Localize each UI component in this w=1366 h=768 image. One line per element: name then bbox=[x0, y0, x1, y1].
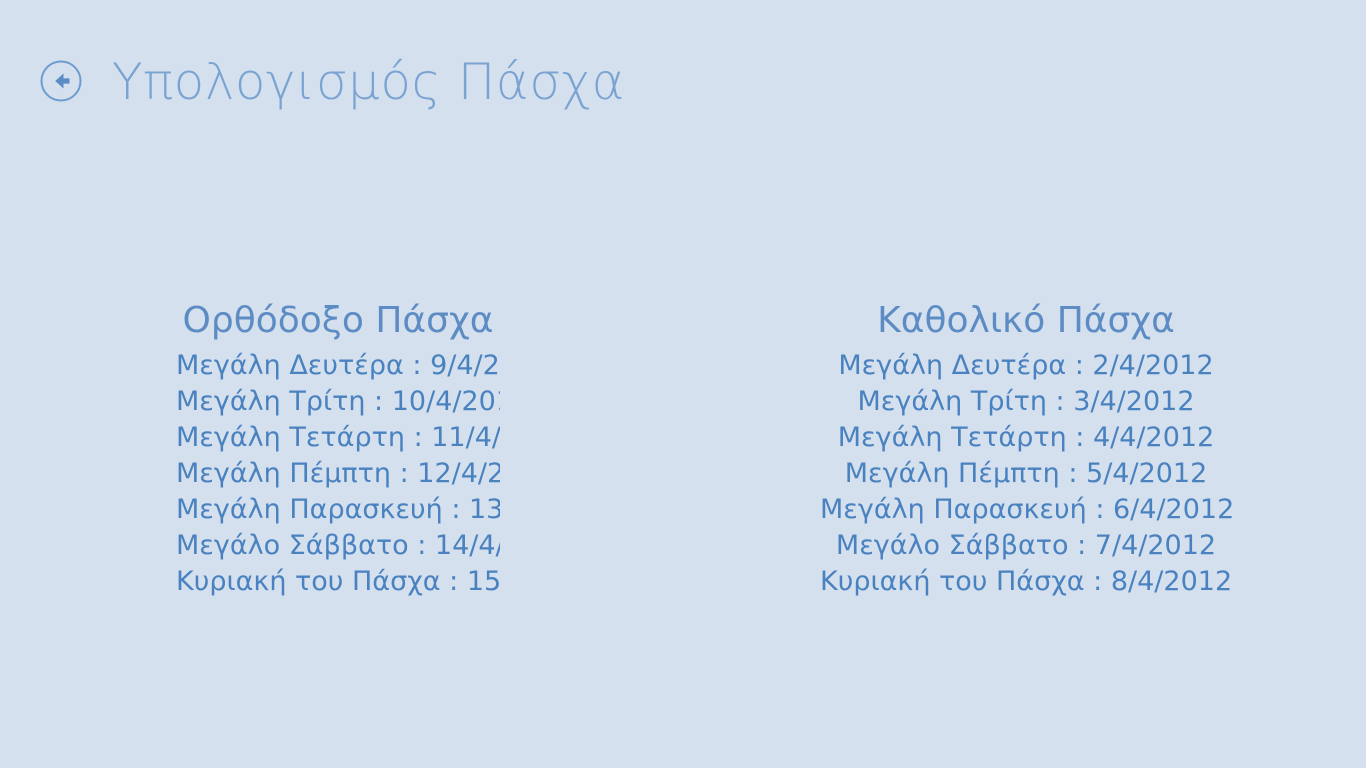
catholic-day-list: Μεγάλη Δευτέρα : 2/4/2012 Μεγάλη Τρίτη :… bbox=[820, 348, 1232, 600]
easter-columns: Ορθόδοξο Πάσχα Μεγάλη Δευτέρα : 9/4/2012… bbox=[0, 298, 1366, 618]
back-arrow-circle-icon bbox=[39, 59, 83, 103]
list-item: Μεγάλο Σάββατο : 7/4/2012 bbox=[820, 528, 1232, 564]
list-item: Μεγάλη Παρασκευή : 6/4/2012 bbox=[820, 492, 1232, 528]
catholic-easter-title: Καθολικό Πάσχα bbox=[820, 298, 1232, 344]
orthodox-easter-column: Ορθόδοξο Πάσχα Μεγάλη Δευτέρα : 9/4/2012… bbox=[176, 298, 500, 600]
back-button[interactable] bbox=[39, 59, 83, 103]
app-header: Υπολογισμός Πάσχα bbox=[0, 0, 1366, 150]
list-item: Μεγάλη Τετάρτη : 11/4/2012 bbox=[176, 420, 500, 456]
list-item: Μεγάλη Πέμπτη : 5/4/2012 bbox=[820, 456, 1232, 492]
catholic-easter-column: Καθολικό Πάσχα Μεγάλη Δευτέρα : 2/4/2012… bbox=[820, 298, 1232, 600]
app-root: Υπολογισμός Πάσχα Ορθόδοξο Πάσχα Μεγάλη … bbox=[0, 0, 1366, 768]
list-item: Μεγάλο Σάββατο : 14/4/2012 bbox=[176, 528, 500, 564]
list-item: Μεγάλη Τετάρτη : 4/4/2012 bbox=[820, 420, 1232, 456]
orthodox-easter-title: Ορθόδοξο Πάσχα bbox=[176, 298, 500, 344]
list-item: Μεγάλη Δευτέρα : 9/4/2012 bbox=[176, 348, 500, 384]
list-item: Μεγάλη Παρασκευή : 13/4/2012 bbox=[176, 492, 500, 528]
list-item: Κυριακή του Πάσχα : 15/4/2012 bbox=[176, 564, 500, 600]
list-item: Κυριακή του Πάσχα : 8/4/2012 bbox=[820, 564, 1232, 600]
page-title: Υπολογισμός Πάσχα bbox=[112, 50, 625, 114]
list-item: Μεγάλη Πέμπτη : 12/4/2012 bbox=[176, 456, 500, 492]
list-item: Μεγάλη Δευτέρα : 2/4/2012 bbox=[820, 348, 1232, 384]
list-item: Μεγάλη Τρίτη : 10/4/2012 bbox=[176, 384, 500, 420]
list-item: Μεγάλη Τρίτη : 3/4/2012 bbox=[820, 384, 1232, 420]
orthodox-day-list: Μεγάλη Δευτέρα : 9/4/2012 Μεγάλη Τρίτη :… bbox=[176, 348, 500, 600]
